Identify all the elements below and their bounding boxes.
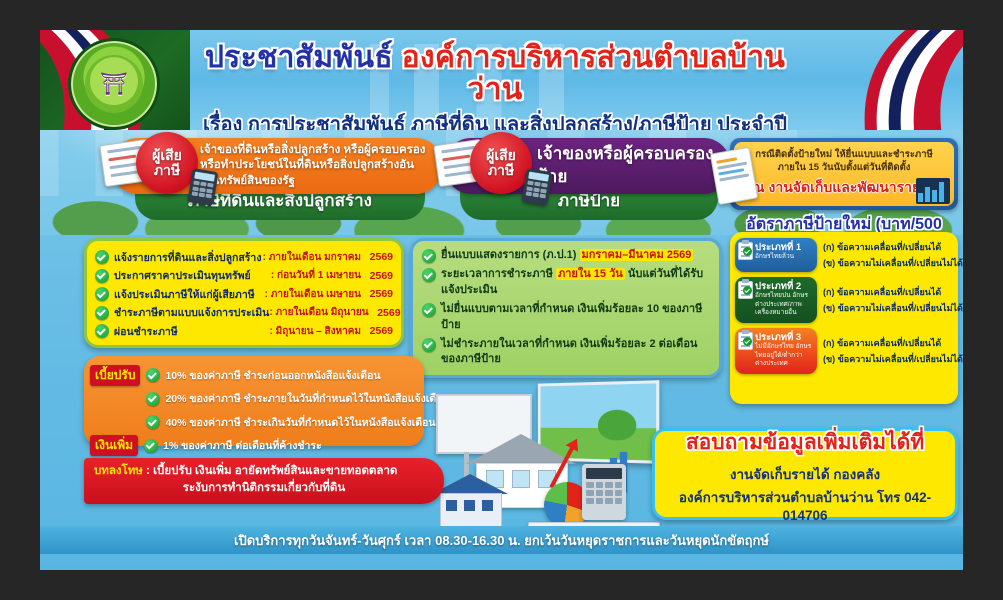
house-window	[464, 500, 475, 511]
schedule-label: ผ่อนชำระภาษี	[114, 323, 270, 340]
new-sign-notice-line3: ณ งานจัดเก็บและพัฒนารายได้	[752, 177, 937, 199]
office-hours-text: เปิดบริการทุกวันจันทร์-วันศุกร์ เวลา 08.…	[234, 530, 769, 551]
penalty-text: 20% ของค่าภาษี ชำระภายในวันที่กำหนดไว้ใน…	[165, 390, 449, 407]
schedule-year: 2569	[365, 325, 393, 337]
check-icon	[95, 287, 109, 301]
office-hours-bar: เปิดบริการทุกวันจันทร์-วันศุกร์ เวลา 08.…	[40, 526, 963, 554]
criminal-penalty-tag: บทลงโทษ	[94, 465, 143, 477]
schedule-when: : ภายในเดือน เมษายน	[265, 287, 365, 302]
schedule-when: : มิถุนายน – สิงหาคม	[270, 324, 366, 339]
sign-rule-row: ยื่นแบบแสดงรายการ (ภ.ป.1) มกราคม–มีนาคม …	[422, 248, 710, 263]
sign-rule-pre: ยื่นแบบแสดงรายการ (ภ.ป.1)	[441, 249, 580, 261]
new-sign-notice-inner: กรณีติดตั้งป้ายใหม่ ให้ยื่นแบบและชำระภาษ…	[734, 142, 954, 206]
rate-item: (ก) ข้อความเคลื่อนที่/เปลี่ยนได้ 52	[823, 336, 963, 350]
rate-item: (ข) ข้อความไม่เคลื่อนที่/เปลี่ยนไม่ได้ 5	[823, 256, 963, 270]
new-sign-notice-card: กรณีติดตั้งป้ายใหม่ ให้ยื่นแบบและชำระภาษ…	[730, 138, 958, 210]
check-icon	[146, 368, 160, 382]
sign-rule-row: ไม่ชำระภายในเวลาที่กำหนด เงินเพิ่มร้อยละ…	[422, 337, 710, 368]
check-icon	[144, 439, 158, 453]
rate-item-label: (ก) ข้อความเคลื่อนที่/เปลี่ยนได้	[823, 240, 941, 254]
page-subtitle: เรื่อง การประชาสัมพันธ์ ภาษีที่ดิน และสิ…	[190, 108, 800, 130]
criminal-penalty-bar: บทลงโทษ : เบี้ยปรับ เงินเพิ่ม อายัดทรัพย…	[84, 458, 444, 504]
contact-department: งานจัดเก็บรายได้ กองคลัง	[730, 463, 880, 485]
new-sign-notice-line1: กรณีติดตั้งป้ายใหม่ ให้ยื่นแบบและชำระภาษ…	[755, 149, 933, 162]
taxpayer-badge-left: ผู้เสีย ภาษี	[136, 132, 198, 194]
thai-flag-ribbon-right-icon	[853, 30, 963, 130]
rate-type-sub-2: อักษรไทยปน อักษรต่างประเทศ/ภาพ เครื่องหม…	[755, 292, 813, 316]
penalty-row: เบี้ยปรับ 40% ของค่าภาษี ชำระเกินวันที่ก…	[90, 412, 416, 433]
rate-item: (ข) ข้อความไม่เคลื่อนที่/เปลี่ยนไม่ได้ 2…	[823, 301, 963, 315]
rate-row-type-1: ประเภทที่ 1 อักษรไทยล้วน (ก) ข้อความเคลื…	[735, 238, 953, 272]
penalty-row: เบี้ยปรับ 20% ของค่าภาษี ชำระภายในวันที่…	[90, 388, 416, 409]
rate-item: (ก) ข้อความเคลื่อนที่/เปลี่ยนได้ 52	[823, 285, 963, 299]
check-icon	[422, 338, 436, 352]
rate-item: (ก) ข้อความเคลื่อนที่/เปลี่ยนได้ 10	[823, 240, 963, 254]
penalty-row: เงินเพิ่ม 1% ของค่าภาษี ต่อเดือนที่ค้างช…	[90, 435, 416, 456]
clipboard-check-icon-1	[743, 247, 752, 256]
house-roof	[466, 434, 576, 464]
schedule-row: ชำระภาษีตามแบบแจ้งการประเมิน : ภายในเดือ…	[95, 304, 393, 321]
schedule-year: 2569	[365, 251, 393, 263]
taxpayer-badge-left-line2: ภาษี	[154, 163, 180, 178]
land-tax-schedule-panel: แจ้งรายการที่ดินและสิ่งปลูกสร้าง : ภายใน…	[84, 238, 404, 348]
rate-row-type-2: ประเภทที่ 2 อักษรไทยปน อักษรต่างประเทศ/ภ…	[735, 277, 953, 323]
sign-rule-pre: ไม่ชำระภายในเวลาที่กำหนด เงินเพิ่มร้อยละ…	[441, 338, 697, 365]
schedule-when: : ภายในเดือน มิถุนายน	[269, 305, 372, 320]
penalty-text: 40% ของค่าภาษี ชำระเกินวันที่กำหนดไว้ในห…	[165, 414, 435, 431]
taxpayer-badge-left-line1: ผู้เสีย	[152, 148, 182, 163]
page-title: ประชาสัมพันธ์ องค์การบริหารส่วนตำบลบ้านว…	[190, 42, 800, 105]
taxpayer-badge-right: ผู้เสีย ภาษี	[470, 132, 532, 194]
sign-rule-pre: ระยะเวลาการชำระภาษี	[441, 268, 556, 280]
rate-items-1: (ก) ข้อความเคลื่อนที่/เปลี่ยนได้ 10 (ข) …	[817, 238, 963, 272]
criminal-penalty-text: : เบี้ยปรับ เงินเพิ่ม อายัดทรัพย์สินและข…	[146, 465, 397, 477]
rate-item: (ข) ข้อความไม่เคลื่อนที่/เปลี่ยนไม่ได้ 5…	[823, 352, 963, 366]
rate-table: ประเภทที่ 1 อักษรไทยล้วน (ก) ข้อความเคลื…	[730, 232, 958, 404]
clipboard-check-icon-2	[743, 286, 752, 295]
check-icon	[95, 306, 109, 320]
rate-type-title-2: ประเภทที่ 2	[755, 281, 813, 292]
rate-type-title-1: ประเภทที่ 1	[755, 242, 813, 253]
house-window	[446, 500, 457, 511]
sign-rule-row: ไม่ยื่นแบบตามเวลาที่กำหนด เงินเพิ่มร้อยล…	[422, 302, 710, 333]
header-banner: ⛩ ประชาสัมพันธ์ องค์การบริหารส่วนตำบลบ้า…	[40, 30, 963, 130]
taxpayer-badge-right-line1: ผู้เสีย	[486, 148, 516, 163]
poster-canvas: ⛩ ประชาสัมพันธ์ องค์การบริหารส่วนตำบลบ้า…	[40, 30, 963, 570]
check-icon	[422, 303, 436, 317]
rate-type-sub-1: อักษรไทยล้วน	[755, 253, 813, 261]
fine-tag: เบี้ยปรับ	[90, 365, 140, 386]
schedule-row: ประกาศราคาประเมินทุนทรัพย์ : ก่อนวันที่ …	[95, 267, 393, 284]
title-part-2: องค์การบริหารส่วนตำบลบ้านว่าน	[402, 41, 786, 106]
check-icon	[95, 269, 109, 283]
calculator-icon-left	[188, 168, 219, 206]
check-icon	[95, 324, 109, 338]
sign-tax-rules-panel: ยื่นแบบแสดงรายการ (ภ.ป.1) มกราคม–มีนาคม …	[410, 238, 722, 378]
logo-inner-circle: ⛩	[85, 55, 143, 113]
check-icon	[95, 250, 109, 264]
sign-rule-highlight: มกราคม–มีนาคม 2569	[580, 249, 694, 261]
schedule-when: : ภายในเดือน มกราคม	[263, 250, 365, 265]
rate-row-type-3: ประเภทที่ 3 ไม่มีอักษรไทย อักษรไทยอยู่ใต…	[735, 328, 953, 374]
rate-items-3: (ก) ข้อความเคลื่อนที่/เปลี่ยนได้ 52 (ข) …	[817, 328, 963, 374]
house-window	[512, 470, 530, 488]
surcharge-tag: เงินเพิ่ม	[90, 435, 138, 456]
rate-items-2: (ก) ข้อความเคลื่อนที่/เปลี่ยนได้ 52 (ข) …	[817, 277, 963, 323]
penalty-text: 10% ของค่าภาษี ชำระก่อนออกหนังสือแจ้งเตื…	[165, 367, 380, 384]
rate-item-label: (ข) ข้อความไม่เคลื่อนที่/เปลี่ยนไม่ได้	[823, 301, 963, 315]
sign-rule-text: ระยะเวลาการชำระภาษี ภายใน 15 วัน นับแต่ว…	[441, 267, 710, 298]
sign-rule-text: ไม่ยื่นแบบตามเวลาที่กำหนด เงินเพิ่มร้อยล…	[441, 302, 710, 333]
schedule-year: 2569	[365, 288, 393, 300]
schedule-when: : ก่อนวันที่ 1 เมษายน	[271, 268, 365, 283]
schedule-label: แจ้งรายการที่ดินและสิ่งปลูกสร้าง	[114, 249, 263, 266]
schedule-row: ผ่อนชำระภาษี : มิถุนายน – สิงหาคม 2569	[95, 323, 393, 340]
rate-item-label: (ก) ข้อความเคลื่อนที่/เปลี่ยนได้	[823, 336, 941, 350]
temple-glyph-icon: ⛩	[100, 73, 128, 95]
rate-type-badge-2: ประเภทที่ 2 อักษรไทยปน อักษรต่างประเทศ/ภ…	[735, 277, 817, 323]
penalty-text: 1% ของค่าภาษี ต่อเดือนที่ค้างชำระ	[163, 437, 322, 454]
sign-rule-row: ระยะเวลาการชำระภาษี ภายใน 15 วัน นับแต่ว…	[422, 267, 710, 298]
schedule-row: แจ้งรายการที่ดินและสิ่งปลูกสร้าง : ภายใน…	[95, 249, 393, 266]
check-icon	[146, 415, 160, 429]
calculator-icon-right	[522, 168, 553, 206]
penalty-row: เบี้ยปรับ 10% ของค่าภาษี ชำระก่อนออกหนัง…	[90, 365, 416, 386]
taxpayer-badge-right-line2: ภาษี	[488, 163, 514, 178]
rate-item-label: (ข) ข้อความไม่เคลื่อนที่/เปลี่ยนไม่ได้	[823, 256, 963, 270]
rate-type-sub-3: ไม่มีอักษรไทย อักษรไทยอยู่ใต้/ต่ำกว่าต่า…	[755, 343, 813, 367]
schedule-label: ประกาศราคาประเมินทุนทรัพย์	[114, 267, 271, 284]
sign-rule-pre: ไม่ยื่นแบบตามเวลาที่กำหนด เงินเพิ่มร้อยล…	[441, 303, 702, 330]
contact-box: สอบถามข้อมูลเพิ่มเติมได้ที่ งานจัดเก็บรา…	[652, 428, 958, 520]
check-icon	[146, 392, 160, 406]
sign-rule-highlight: ภายใน 15 วัน	[556, 268, 625, 280]
contact-title: สอบถามข้อมูลเพิ่มเติมได้ที่	[686, 426, 924, 459]
header-title-block: ประชาสัมพันธ์ องค์การบริหารส่วนตำบลบ้านว…	[190, 42, 800, 130]
sign-rule-text: ไม่ชำระภายในเวลาที่กำหนด เงินเพิ่มร้อยละ…	[441, 337, 710, 368]
schedule-label: แจ้งประเมินภาษีให้แก่ผู้เสียภาษี	[114, 286, 265, 303]
criminal-penalty-line1: บทลงโทษ : เบี้ยปรับ เงินเพิ่ม อายัดทรัพย…	[94, 463, 434, 480]
rate-type-title-3: ประเภทที่ 3	[755, 332, 813, 343]
title-part-1: ประชาสัมพันธ์	[205, 41, 393, 74]
organization-logo: ⛩	[68, 38, 160, 130]
penalty-panel: เบี้ยปรับ 10% ของค่าภาษี ชำระก่อนออกหนัง…	[84, 356, 424, 446]
rate-type-badge-1: ประเภทที่ 1 อักษรไทยล้วน	[735, 238, 817, 272]
clipboard-check-icon-3	[743, 337, 752, 346]
sign-rule-text: ยื่นแบบแสดงรายการ (ภ.ป.1) มกราคม–มีนาคม …	[441, 248, 693, 263]
house-window	[482, 500, 493, 511]
rate-item-label: (ข) ข้อความไม่เคลื่อนที่/เปลี่ยนไม่ได้	[823, 352, 963, 366]
rate-item-label: (ก) ข้อความเคลื่อนที่/เปลี่ยนได้	[823, 285, 941, 299]
rate-type-badge-3: ประเภทที่ 3 ไม่มีอักษรไทย อักษรไทยอยู่ใต…	[735, 328, 817, 374]
criminal-penalty-line2: ระงับการทำนิติกรรมเกี่ยวกับที่ดิน	[94, 480, 434, 496]
schedule-label: ชำระภาษีตามแบบแจ้งการประเมิน	[114, 304, 269, 321]
new-sign-notice-line2: ภายใน 15 วันนับตั้งแต่วันที่ติดตั้ง	[778, 162, 911, 175]
bar-chart-monitor-icon	[916, 178, 950, 204]
schedule-year: 2569	[373, 307, 401, 319]
schedule-row: แจ้งประเมินภาษีให้แก่ผู้เสียภาษี : ภายใน…	[95, 286, 393, 303]
check-icon	[422, 268, 436, 282]
calculator-large-icon	[582, 464, 626, 520]
contact-organization-phone: องค์การบริหารส่วนตำบลบ้านว่าน โทร 042-01…	[663, 486, 947, 523]
check-icon	[422, 249, 436, 263]
schedule-year: 2569	[365, 270, 393, 282]
